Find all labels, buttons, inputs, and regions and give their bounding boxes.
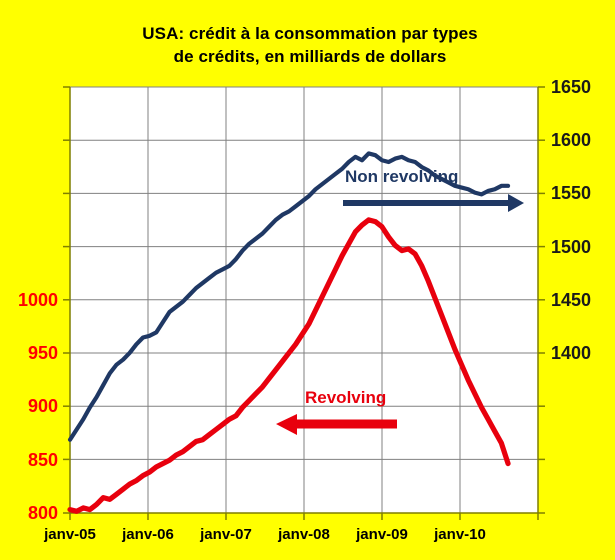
right-axis-tick-1400: 1400 <box>551 344 613 362</box>
plot-area <box>0 0 615 560</box>
annotation-revolving: Revolving <box>305 388 386 407</box>
right-axis-tick-1500: 1500 <box>551 238 613 256</box>
x-axis-tick-janv-05: janv-05 <box>25 527 115 543</box>
left-axis-ticks <box>63 87 70 513</box>
x-axis-tick-janv-07: janv-07 <box>181 527 271 543</box>
chart-container: USA: crédit à la consommation par types … <box>0 0 615 560</box>
annotation-non-revolving: Non revolving <box>345 167 458 186</box>
left-axis-tick-950: 950 <box>0 344 58 362</box>
right-axis-tick-1550: 1550 <box>551 184 613 202</box>
right-axis-tick-1600: 1600 <box>551 131 613 149</box>
right-axis-tick-1650: 1650 <box>551 78 613 96</box>
x-axis-tick-janv-09: janv-09 <box>337 527 427 543</box>
left-axis-tick-1000: 1000 <box>0 291 58 309</box>
left-axis-tick-800: 800 <box>0 504 58 522</box>
right-axis-ticks <box>538 87 545 513</box>
left-axis-tick-850: 850 <box>0 451 58 469</box>
left-axis-tick-900: 900 <box>0 397 58 415</box>
x-axis-ticks <box>70 513 538 520</box>
right-axis-tick-1450: 1450 <box>551 291 613 309</box>
x-axis-tick-janv-08: janv-08 <box>259 527 349 543</box>
x-axis-tick-janv-10: janv-10 <box>415 527 505 543</box>
x-axis-tick-janv-06: janv-06 <box>103 527 193 543</box>
